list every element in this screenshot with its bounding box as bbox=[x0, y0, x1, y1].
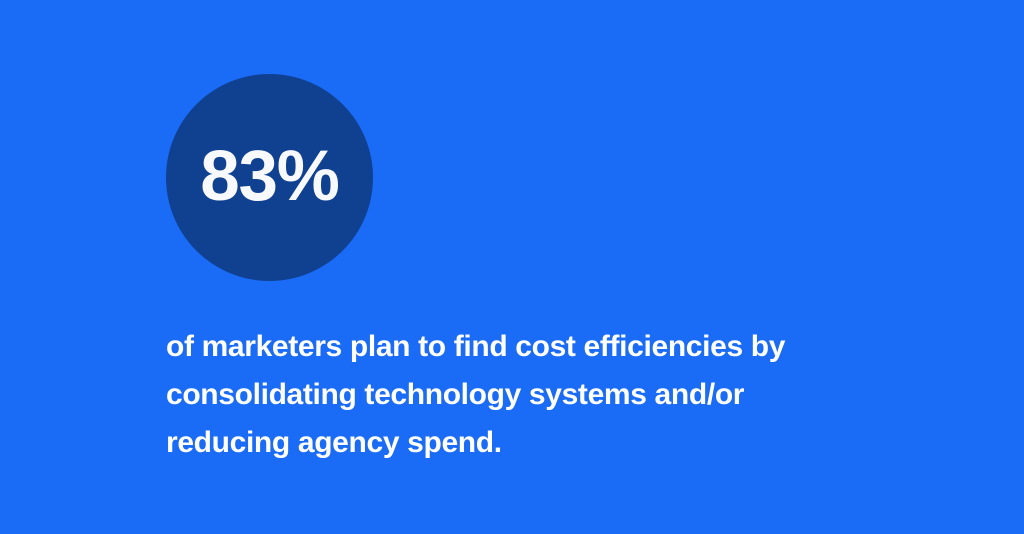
caption-line-3: reducing agency spend. bbox=[166, 419, 866, 467]
caption-line-2: consolidating technology systems and/or bbox=[166, 371, 866, 419]
stat-value: 83% bbox=[200, 141, 339, 212]
caption-block: of marketers plan to find cost efficienc… bbox=[166, 323, 866, 467]
stat-slide: 83% of marketers plan to find cost effic… bbox=[0, 0, 1024, 534]
stat-circle: 83% bbox=[166, 74, 373, 281]
caption-line-1: of marketers plan to find cost efficienc… bbox=[166, 323, 866, 371]
